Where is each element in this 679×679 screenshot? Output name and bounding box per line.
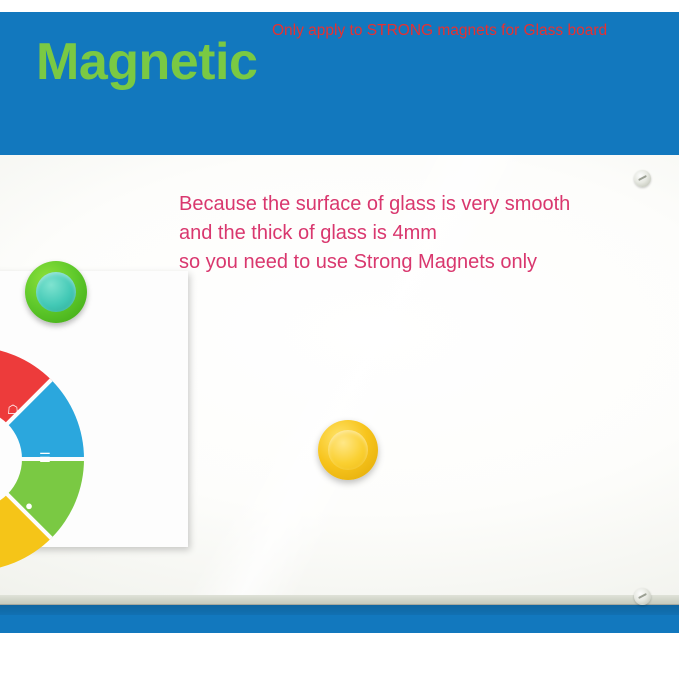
caption-line-3: so you need to use Strong Magnets only [179, 248, 570, 277]
green-magnet [25, 261, 87, 323]
product-image: Magnetic Only apply to STRONG magnets fo… [0, 0, 679, 679]
user-icon: ● [20, 497, 38, 515]
pie-chart: ☖ ☰ ● ⚲ [0, 347, 84, 571]
home-icon: ☖ [4, 401, 22, 419]
headline-magnetic: Magnetic [36, 34, 257, 90]
subline-warning: Only apply to STRONG magnets for Glass b… [272, 22, 607, 40]
yellow-magnet [318, 420, 378, 480]
caption-block: Because the surface of glass is very smo… [179, 190, 570, 277]
bar-chart-icon: ☰ [36, 449, 54, 467]
screw-top-right-icon [634, 170, 651, 187]
screw-bottom-right-icon [634, 588, 651, 605]
caption-line-1: Because the surface of glass is very smo… [179, 190, 570, 219]
glass-board-shadow [0, 604, 679, 615]
top-white-strip [0, 0, 679, 12]
pie-chart-poster: ☖ ☰ ● ⚲ [0, 271, 188, 547]
caption-line-2: and the thick of glass is 4mm [179, 219, 570, 248]
bottom-white-strip [0, 633, 679, 679]
